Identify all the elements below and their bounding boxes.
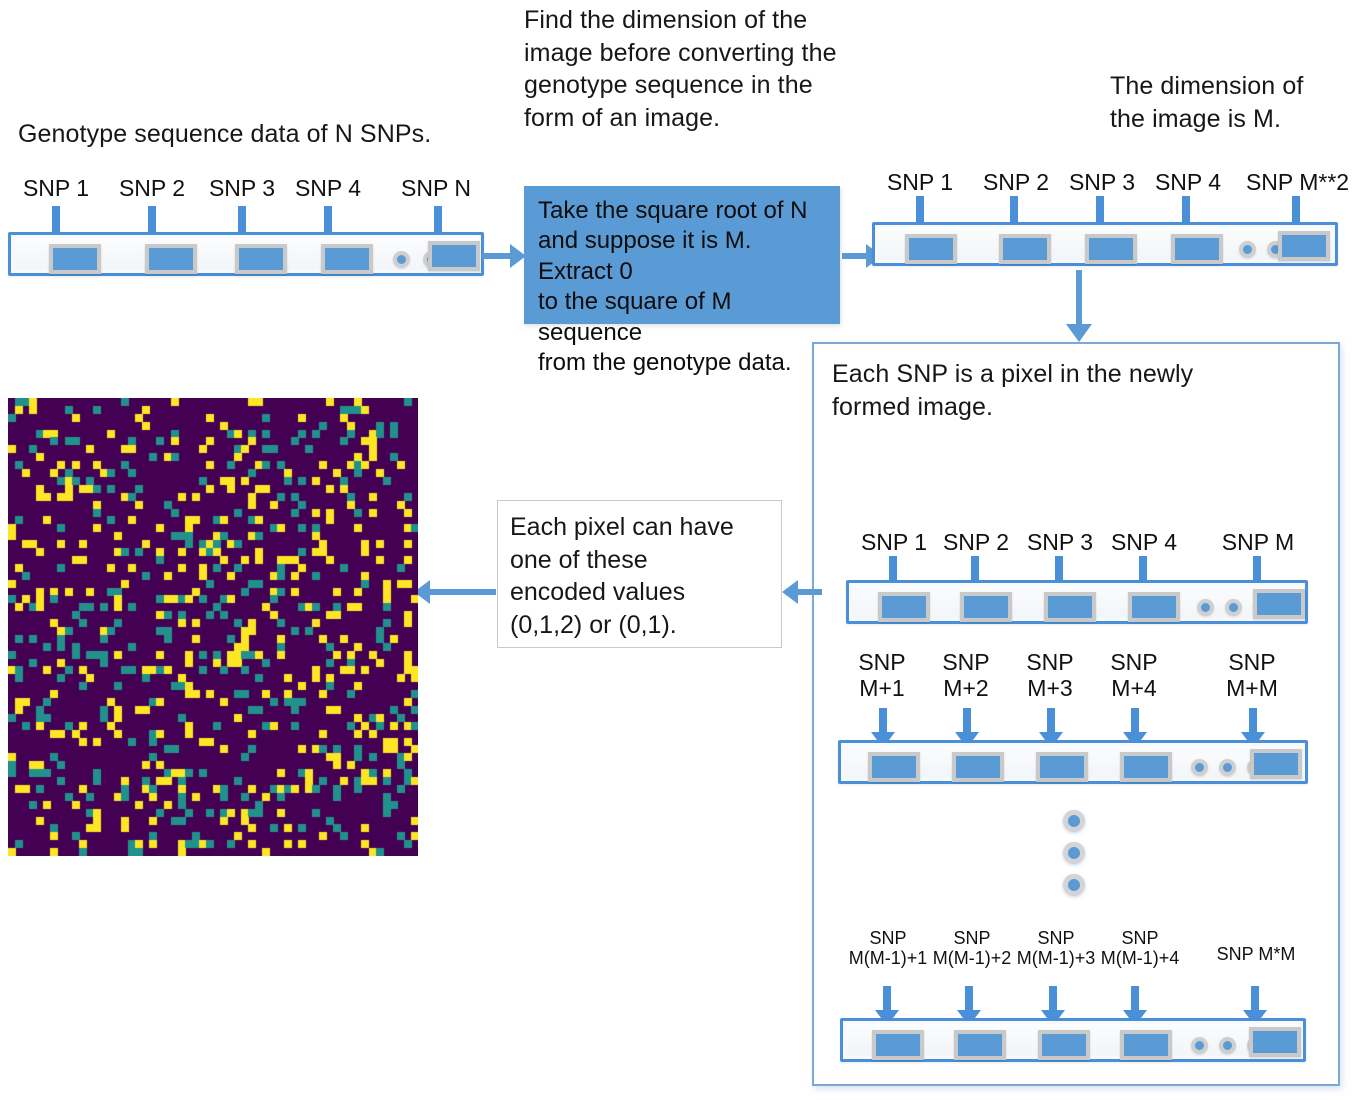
image-row-first-group: SNP 1 SNP 2 SNP 3 SNP 4 SNP M	[846, 530, 1316, 640]
snp-label-rowlast-2: SNP M(M-1)+2	[924, 928, 1020, 968]
snp-cell[interactable]	[1128, 592, 1180, 622]
snp-cell-rowlast-mm[interactable]	[1249, 1027, 1301, 1057]
input-sequence-bar[interactable]	[8, 232, 484, 276]
snp-label-row2-mm: SNP M+M	[1208, 650, 1296, 702]
ellipsis-dots-icon	[1219, 1037, 1236, 1054]
caption-genotype-data: Genotype sequence data of N SNPs.	[18, 118, 488, 151]
snp-cell[interactable]	[235, 244, 287, 274]
snp-label-extracted-1: SNP 1	[872, 170, 968, 196]
ellipsis-dots-icon	[1219, 759, 1236, 776]
caption-find-dimension: Find the dimension of the image before c…	[524, 4, 904, 134]
snp-label-row1-3: SNP 3	[1012, 530, 1108, 556]
snp-label-input-1: SNP 1	[8, 176, 104, 202]
snp-label-rowlast-4: SNP M(M-1)+4	[1092, 928, 1188, 968]
snp-label-input-2: SNP 2	[104, 176, 200, 202]
snp-cell[interactable]	[960, 592, 1012, 622]
ellipsis-dots-icon	[1225, 599, 1242, 616]
snp-label-extracted-4: SNP 4	[1140, 170, 1236, 196]
snp-cell[interactable]	[321, 244, 373, 274]
image-row-second-group: SNP M+1 SNP M+2 SNP M+3 SNP M+4 SNP M+M	[838, 650, 1318, 780]
snp-label-extracted-m2: SNP M**2	[1230, 170, 1355, 196]
snp-cell[interactable]	[952, 752, 1004, 782]
caption-dimension-is-m: The dimension of the image is M.	[1110, 70, 1355, 135]
snp-cell[interactable]	[1038, 1030, 1090, 1060]
arrow-left-icon	[782, 568, 822, 616]
ellipsis-dots-icon	[1239, 241, 1256, 258]
process-box-sqrt: Take the square root of N and suppose it…	[524, 186, 840, 324]
input-sequence-group: SNP 1 SNP 2 SNP 3 SNP 4 SNP N	[8, 176, 488, 286]
image-row-second-bar[interactable]	[838, 740, 1308, 784]
extracted-sequence-group: SNP 1 SNP 2 SNP 3 SNP 4 SNP M**2	[872, 170, 1342, 280]
arrow-down-icon	[1065, 270, 1093, 342]
caption-each-snp-pixel: Each SNP is a pixel in the newly formed …	[832, 358, 1302, 423]
snp-cell[interactable]	[1085, 234, 1137, 264]
snp-label-row1-m: SNP M	[1208, 530, 1308, 556]
snp-label-extracted-2: SNP 2	[968, 170, 1064, 196]
arrow-right-icon	[482, 232, 526, 280]
ellipsis-dots-icon	[1197, 599, 1214, 616]
snp-label-extracted-3: SNP 3	[1054, 170, 1150, 196]
snp-label-row2-2: SNP M+2	[922, 650, 1010, 702]
ellipsis-dots-icon	[393, 251, 410, 268]
snp-label-input-4: SNP 4	[280, 176, 376, 202]
snp-cell[interactable]	[868, 752, 920, 782]
snp-cell[interactable]	[872, 1030, 924, 1060]
snp-label-row1-4: SNP 4	[1096, 530, 1192, 556]
snp-cell[interactable]	[905, 234, 957, 264]
snp-cell[interactable]	[878, 592, 930, 622]
genotype-image-heatmap	[8, 398, 418, 856]
note-box-encoded-values: Each pixel can have one of these encoded…	[497, 500, 782, 648]
snp-label-row2-3: SNP M+3	[1006, 650, 1094, 702]
snp-label-row1-2: SNP 2	[928, 530, 1024, 556]
ellipsis-dots-icon	[1191, 1037, 1208, 1054]
snp-label-rowlast-mm: SNP M*M	[1196, 944, 1316, 964]
snp-cell-n[interactable]	[428, 241, 480, 271]
snp-cell-row1-m[interactable]	[1253, 589, 1305, 619]
snp-label-rowlast-1: SNP M(M-1)+1	[840, 928, 936, 968]
snp-cell-row2-mm[interactable]	[1250, 749, 1302, 779]
snp-cell[interactable]	[1044, 592, 1096, 622]
snp-cell[interactable]	[954, 1030, 1006, 1060]
extracted-sequence-bar[interactable]	[872, 222, 1338, 266]
snp-cell[interactable]	[1120, 752, 1172, 782]
vertical-ellipsis-icon	[1063, 810, 1087, 900]
snp-cell[interactable]	[1120, 1030, 1172, 1060]
ellipsis-dots-icon	[1191, 759, 1208, 776]
snp-label-rowlast-3: SNP M(M-1)+3	[1008, 928, 1104, 968]
image-row-last-bar[interactable]	[840, 1018, 1306, 1062]
snp-cell[interactable]	[999, 234, 1051, 264]
snp-cell[interactable]	[145, 244, 197, 274]
snp-label-row2-4: SNP M+4	[1090, 650, 1178, 702]
snp-cell[interactable]	[1036, 752, 1088, 782]
snp-label-row2-1: SNP M+1	[838, 650, 926, 702]
snp-cell-m2[interactable]	[1278, 231, 1330, 261]
snp-label-input-3: SNP 3	[194, 176, 290, 202]
snp-cell[interactable]	[1171, 234, 1223, 264]
arrow-left-icon	[414, 568, 496, 616]
image-row-last-group: SNP M(M-1)+1 SNP M(M-1)+2 SNP M(M-1)+3 S…	[840, 928, 1320, 1048]
snp-label-input-n: SNP N	[386, 176, 486, 202]
snp-cell[interactable]	[49, 244, 101, 274]
image-row-first-bar[interactable]	[846, 580, 1308, 624]
